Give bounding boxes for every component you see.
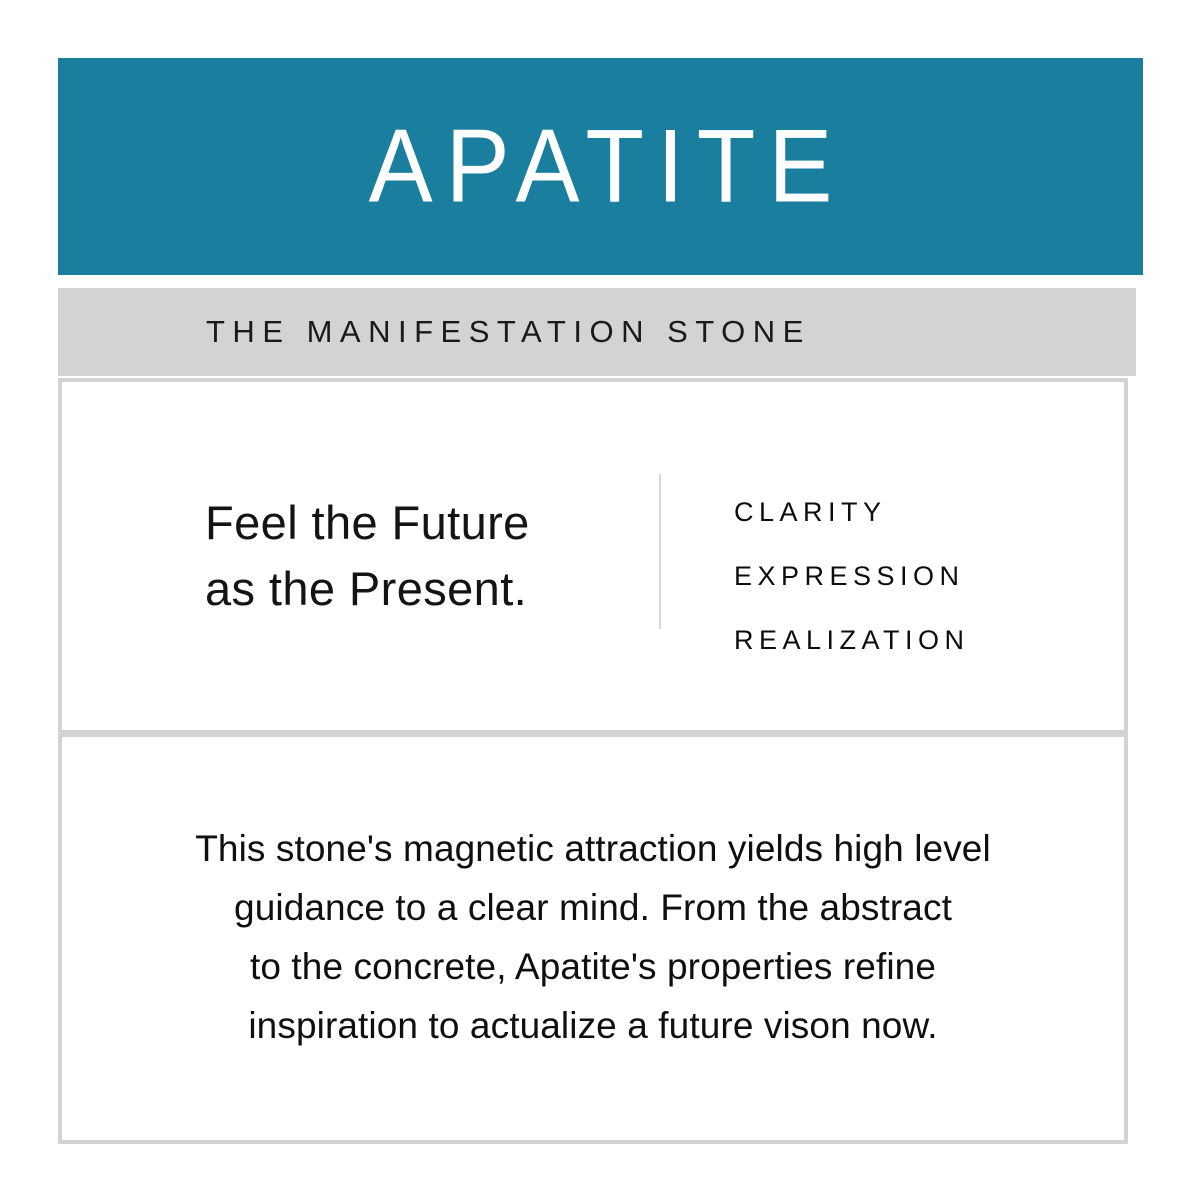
- page-title: APATITE: [356, 115, 846, 219]
- keyword-list: CLARITY EXPRESSION REALIZATION: [734, 480, 970, 672]
- tagline: Feel the Future as the Present.: [205, 490, 530, 622]
- tagline-keywords-inner: Feel the Future as the Present. CLARITY …: [62, 382, 1124, 730]
- keyword-item: CLARITY: [734, 480, 970, 544]
- description-panel: This stone's magnetic attraction yields …: [58, 733, 1128, 1144]
- tagline-keywords-panel: Feel the Future as the Present. CLARITY …: [58, 378, 1128, 734]
- description-text: This stone's magnetic attraction yields …: [62, 737, 1124, 1140]
- keyword-item: REALIZATION: [734, 608, 970, 672]
- title-banner: APATITE: [58, 58, 1143, 275]
- keyword-item: EXPRESSION: [734, 544, 970, 608]
- vertical-divider: [659, 474, 661, 629]
- subtitle: THE MANIFESTATION STONE: [58, 314, 811, 350]
- stone-info-card: APATITE THE MANIFESTATION STONE Feel the…: [58, 58, 1143, 1144]
- subtitle-band: THE MANIFESTATION STONE: [58, 288, 1136, 376]
